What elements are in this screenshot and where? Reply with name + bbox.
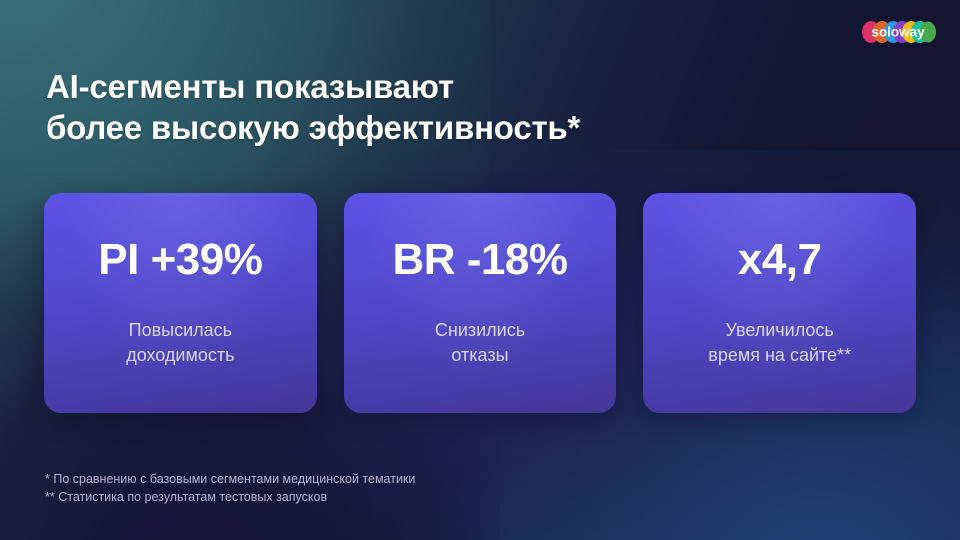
- footnote-secondary: ** Статистика по результатам тестовых за…: [45, 488, 415, 506]
- stat-caption: Увеличилось время на сайте**: [708, 318, 851, 368]
- stat-value: x4,7: [738, 238, 822, 282]
- stat-value: PI +39%: [98, 238, 262, 282]
- stat-caption: Снизились отказы: [435, 318, 525, 368]
- stat-card-br[interactable]: BR -18% Снизились отказы: [344, 193, 617, 413]
- stat-card-pi[interactable]: PI +39% Повысилась доходимость: [44, 193, 317, 413]
- stat-caption: Повысилась доходимость: [126, 318, 234, 368]
- footnote-primary: * По сравнению с базовыми сегментами мед…: [45, 470, 415, 488]
- slide-canvas: soloway AI-сегменты показывают более выс…: [0, 0, 960, 540]
- stat-card-group: PI +39% Повысилась доходимость BR -18% С…: [44, 193, 916, 413]
- stat-value: BR -18%: [393, 238, 568, 282]
- footnote-block: * По сравнению с базовыми сегментами мед…: [45, 470, 415, 506]
- stat-card-time[interactable]: x4,7 Увеличилось время на сайте**: [643, 193, 916, 413]
- soloway-logo-icon: soloway: [858, 17, 938, 47]
- slide-headline: AI-сегменты показывают более высокую эфф…: [46, 66, 580, 148]
- soloway-wordmark: soloway: [871, 25, 925, 40]
- soloway-logo[interactable]: soloway: [858, 17, 938, 47]
